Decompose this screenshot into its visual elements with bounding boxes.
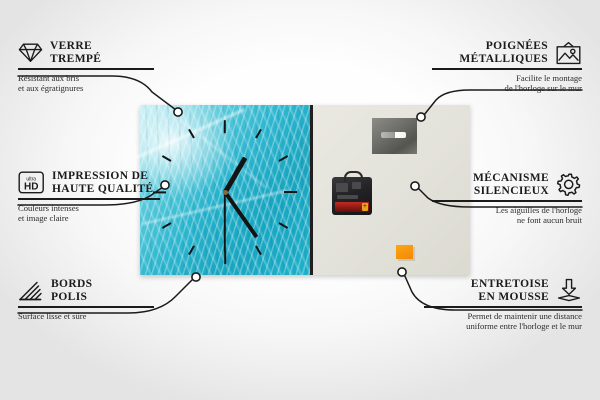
callout-tempered-glass: VERRE TREMPÉ Résistant aux bris et aux é… [18, 40, 168, 94]
callout-foam-spacer: ENTRETOISE EN MOUSSE Permet de maintenir… [416, 278, 582, 332]
callout-sub-line2: et image claire [18, 213, 174, 223]
callout-title: VERRE TREMPÉ [50, 40, 101, 65]
callout-title: IMPRESSION DE HAUTE QUALITÉ [52, 170, 153, 195]
clock-center-hub [223, 190, 228, 195]
callout-head: ultra HD IMPRESSION DE HAUTE QUALITÉ [18, 170, 174, 195]
clock-tick [278, 155, 288, 162]
infographic-canvas: + [0, 0, 600, 400]
clock-tick [162, 155, 172, 162]
svg-text:HD: HD [24, 182, 38, 193]
clock-tick [284, 191, 297, 193]
polished-edges-icon [18, 280, 44, 302]
callout-silent-mechanism: MÉCANISME SILENCIEUX Les aiguilles de l'… [422, 172, 582, 226]
feather-sheen-1 [134, 108, 245, 160]
clock-tick [224, 120, 226, 133]
callout-polished-edges: BORDS POLIS Surface lisse et sûre [18, 278, 168, 321]
callout-title: BORDS POLIS [51, 278, 92, 303]
callout-sub-line1: Les aiguilles de l'horloge [422, 205, 582, 215]
battery-plus-symbol: + [363, 203, 367, 210]
callout-title: ENTRETOISE EN MOUSSE [471, 278, 549, 303]
callout-rule [424, 306, 582, 307]
callout-rule [432, 200, 582, 201]
callout-sub-line2: ne font aucun bruit [422, 215, 582, 225]
clock-tick [278, 222, 288, 229]
callout-rule [18, 198, 160, 199]
hanger-slot [381, 132, 406, 138]
callout-sub-line1: Résistant aux bris [18, 73, 168, 83]
clock-tick [255, 129, 262, 139]
mechanism-detail-3 [337, 195, 358, 199]
picture-hanger-icon [555, 41, 582, 65]
product-image: + [140, 105, 470, 277]
callout-sub-line2: et aux égratignures [18, 83, 168, 93]
callout-sub-line1: Permet de maintenir une distance [416, 311, 582, 321]
battery: + [335, 202, 369, 212]
callout-rule [18, 68, 154, 69]
clock-tick [188, 245, 195, 255]
callout-head: ENTRETOISE EN MOUSSE [416, 278, 582, 303]
callout-head: BORDS POLIS [18, 278, 168, 303]
callout-print-quality: ultra HD IMPRESSION DE HAUTE QUALITÉ Cou… [18, 170, 174, 224]
callout-rule [432, 68, 582, 69]
mechanism-detail-2 [352, 182, 361, 189]
mechanism-hook [344, 171, 363, 182]
callout-sub-line1: Facilite le montage [422, 73, 582, 83]
callout-title: MÉCANISME SILENCIEUX [473, 172, 549, 197]
ultra-hd-icon: ultra HD [18, 170, 45, 195]
callout-head: POIGNÉES MÉTALLIQUES [422, 40, 582, 65]
callout-head: VERRE TREMPÉ [18, 40, 168, 65]
callout-sub-line2: uniforme entre l'horloge et le mur [416, 321, 582, 331]
clock-tick [255, 245, 262, 255]
gear-icon [556, 172, 582, 197]
diamond-icon [18, 42, 43, 63]
foam-spacer [396, 245, 413, 259]
clock-tick [224, 251, 226, 264]
callout-head: MÉCANISME SILENCIEUX [422, 172, 582, 197]
mechanism-detail-1 [336, 183, 348, 192]
callout-sub-line1: Surface lisse et sûre [18, 311, 168, 321]
metal-hanger-plate [372, 118, 417, 154]
feather-sheen-3 [179, 119, 267, 188]
callout-rule [18, 306, 154, 307]
clock-mechanism: + [332, 177, 372, 215]
second-hand [224, 192, 226, 252]
callout-sub-line1: Couleurs intenses [18, 203, 174, 213]
callout-metal-hangers: POIGNÉES MÉTALLIQUES Facilite le montage… [422, 40, 582, 94]
foam-spacer-icon [556, 278, 582, 303]
callout-sub-line2: de l'horloge sur le mur [422, 83, 582, 93]
callout-title: POIGNÉES MÉTALLIQUES [459, 40, 548, 65]
